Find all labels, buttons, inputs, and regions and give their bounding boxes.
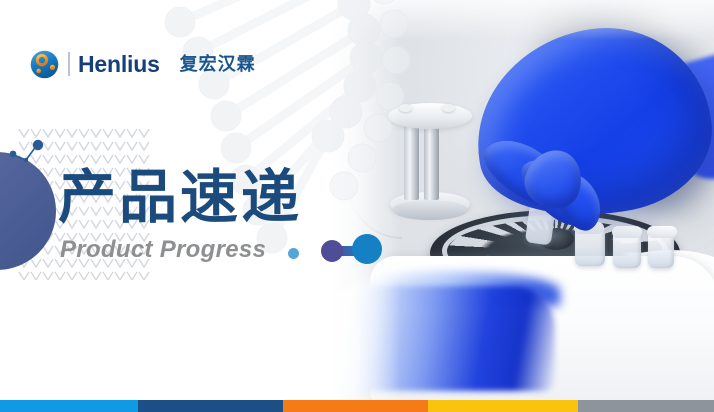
logo-divider	[68, 52, 70, 76]
accent-dot-icon	[288, 248, 299, 259]
product-progress-banner: Henlius 复宏汉霖 产品速递 Product Progress	[0, 0, 714, 412]
bar-segment-dark-blue	[138, 400, 283, 412]
bar-segment-grey	[578, 400, 714, 412]
brand-name: Henlius	[78, 53, 160, 76]
bar-segment-orange	[283, 400, 428, 412]
brand-logo[interactable]: Henlius 复宏汉霖	[30, 47, 256, 81]
page-title: 产品速递	[58, 168, 302, 229]
molecule-node-icon	[8, 138, 46, 166]
sample-vial-cap	[647, 226, 677, 238]
henlius-circle-logo-icon	[30, 50, 59, 79]
accent-node-small-icon	[321, 240, 343, 262]
brand-name-chinese: 复宏汉霖	[180, 55, 256, 73]
bar-segment-yellow	[428, 400, 578, 412]
sample-vial-cap	[612, 226, 642, 238]
instrument-stand-column-right	[424, 118, 439, 200]
page-subtitle: Product Progress	[60, 236, 266, 264]
instrument-stand-knob-right	[442, 104, 455, 112]
bottom-color-bar	[0, 400, 714, 412]
accent-node-large-icon	[352, 234, 382, 264]
bar-segment-light-blue	[0, 400, 138, 412]
